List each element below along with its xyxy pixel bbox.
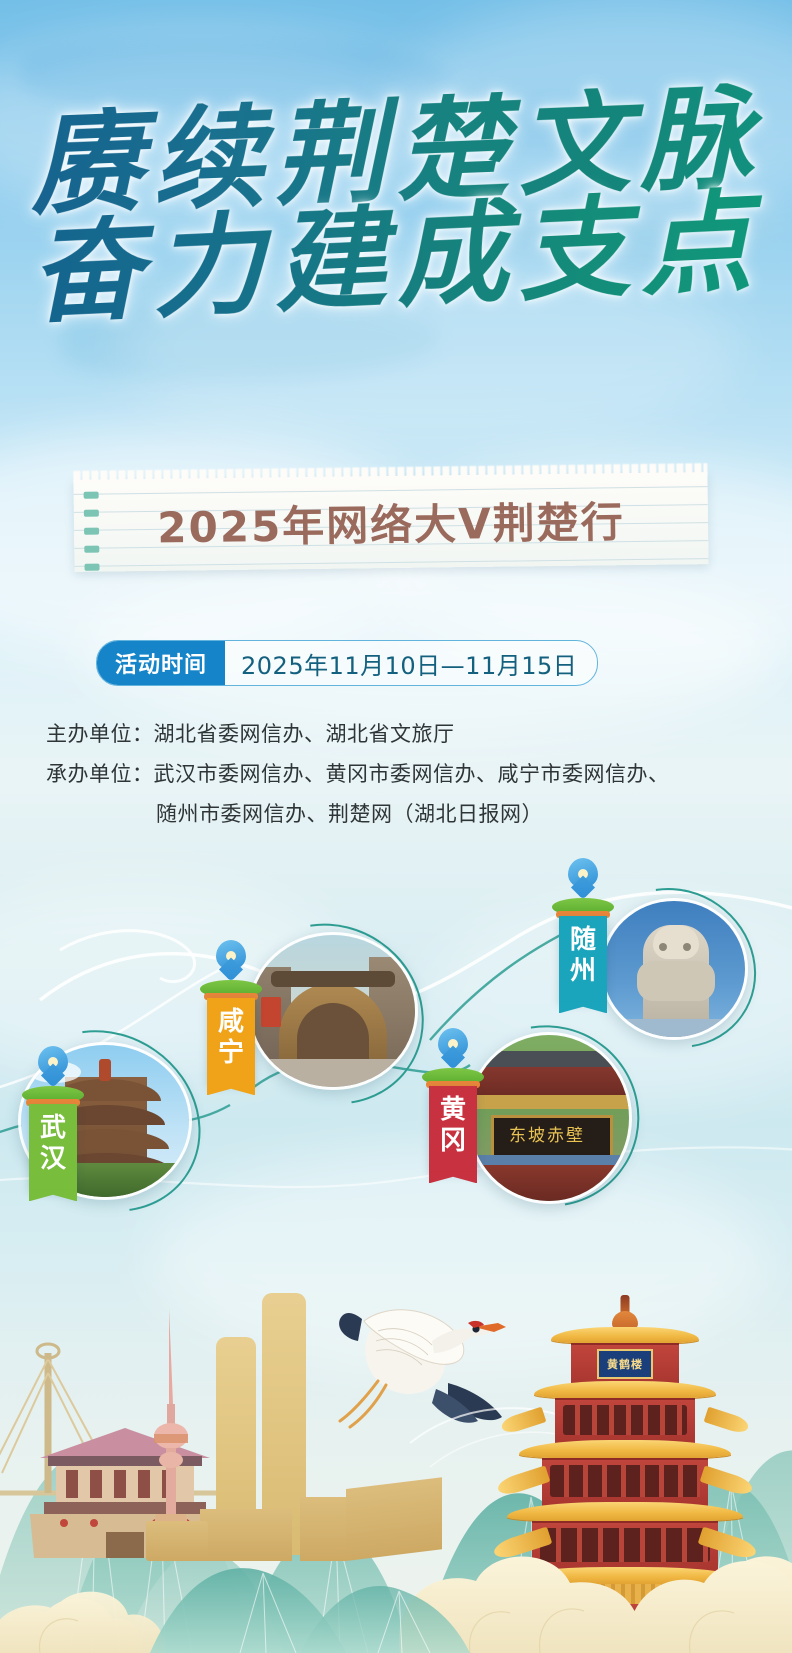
- poster-canvas: 赓续荆楚文脉 奋力建成支点 2025年网络大V荆楚行 活动时间 2025年11月…: [0, 0, 792, 1653]
- organizer-value-host: 湖北省委网信办、湖北省文旅厅: [154, 722, 455, 746]
- date-badge-value: 2025年11月10日—11月15日: [225, 641, 597, 685]
- city-label-char2: 冈: [440, 1126, 466, 1156]
- city-label-char2: 宁: [218, 1038, 244, 1068]
- huanggang-map-pin-post: 黄 冈: [418, 1016, 488, 1208]
- city-label-char1: 咸: [218, 1007, 244, 1037]
- city-label-char2: 州: [570, 956, 596, 986]
- xianning-map-pin-post: 咸 宁: [196, 930, 266, 1110]
- organizer-role-host: 主办单位：: [46, 722, 154, 746]
- suizhou-landmark-photo[interactable]: [600, 898, 748, 1040]
- xianning-landmark-photo[interactable]: [248, 932, 418, 1090]
- huanggang-landmark-photo[interactable]: 东坡赤壁: [466, 1032, 632, 1204]
- city-flag-xianning[interactable]: 咸 宁: [207, 998, 255, 1084]
- city-node-huanggang[interactable]: 东坡赤壁 黄 冈: [418, 1010, 638, 1210]
- city-node-suizhou[interactable]: 随 州: [548, 850, 768, 1040]
- foreground-hills: [0, 1533, 792, 1653]
- organizer-line-coorg-2: 随州市委网信办、荆楚网（湖北日报网）: [46, 794, 746, 834]
- bottom-landscape-illustration: 黄鹤楼: [0, 1183, 792, 1653]
- tower-plaque-text: 黄鹤楼: [607, 1356, 643, 1372]
- organizer-value-coorg-1: 武汉市委网信办、黄冈市委网信办、咸宁市委网信办、: [154, 762, 670, 786]
- city-node-xianning[interactable]: 咸 宁: [196, 920, 436, 1110]
- city-label-char1: 武: [40, 1113, 66, 1143]
- location-pin-icon: [438, 1028, 468, 1058]
- city-flag-huanggang[interactable]: 黄 冈: [429, 1086, 477, 1172]
- organizer-value-coorg-2: 随州市委网信办、荆楚网（湖北日报网）: [156, 802, 543, 826]
- title-line-2: 奋力建成支点: [0, 184, 792, 332]
- organizer-line-coorg-1: 承办单位：武汉市委网信办、黄冈市委网信办、咸宁市委网信办、: [46, 754, 746, 794]
- city-label-char1: 随: [570, 925, 596, 955]
- location-pin-icon: [568, 858, 598, 888]
- organizer-block: 主办单位：湖北省委网信办、湖北省文旅厅 承办单位：武汉市委网信办、黄冈市委网信办…: [46, 714, 746, 834]
- suizhou-map-pin-post: 随 州: [548, 850, 618, 1030]
- subtitle-paper-banner: 2025年网络大V荆楚行: [73, 472, 708, 572]
- organizer-line-host: 主办单位：湖北省委网信办、湖北省文旅厅: [46, 714, 746, 754]
- city-flag-suizhou[interactable]: 随 州: [559, 916, 607, 1002]
- date-badge-label: 活动时间: [97, 641, 225, 685]
- poster-title: 赓续荆楚文脉 奋力建成支点: [0, 96, 792, 314]
- subtitle-text: 2025年网络大V荆楚行: [74, 488, 709, 557]
- location-pin-icon: [38, 1046, 68, 1076]
- city-label-char1: 黄: [440, 1095, 466, 1125]
- tower-plaque: 黄鹤楼: [597, 1349, 653, 1379]
- event-date-badge: 活动时间 2025年11月10日—11月15日: [96, 640, 598, 686]
- wuhan-map-pin-post: 武 汉: [18, 1020, 88, 1210]
- organizer-role-coorg: 承办单位：: [46, 762, 154, 786]
- city-flag-wuhan[interactable]: 武 汉: [29, 1104, 77, 1190]
- location-pin-icon: [216, 940, 246, 970]
- city-label-char2: 汉: [40, 1144, 66, 1174]
